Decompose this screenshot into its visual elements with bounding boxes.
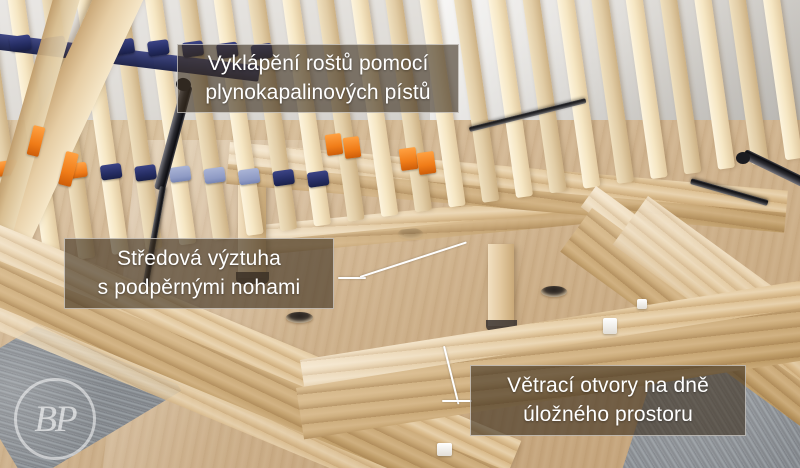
orange-clip — [343, 136, 362, 159]
gas-piston-mount — [736, 152, 750, 164]
plastic-corner-nub — [637, 299, 647, 309]
watermark-text: BP — [17, 381, 93, 457]
callout-center-support: Středová výztuha s podpěrnými nohami — [64, 238, 334, 309]
callout-center-support-line2: s podpěrnými nohami — [98, 274, 301, 302]
callout-center-support-line1: Středová výztuha — [117, 245, 281, 273]
callout-vent-holes: Větrací otvory na dně úložného prostoru — [470, 365, 746, 436]
orange-clip — [417, 151, 437, 175]
callout-gas-pistons-line2: plynokapalinových pístů — [205, 79, 430, 107]
orange-clip — [325, 133, 344, 156]
ventilation-hole — [286, 312, 313, 323]
support-leg-2 — [488, 244, 514, 326]
watermark-logo: BP — [14, 378, 96, 460]
callout-gas-pistons: Vyklápění roštů pomocí plynokapalinových… — [177, 44, 459, 113]
orange-clip — [399, 147, 419, 171]
callout-vent-holes-line2: úložného prostoru — [523, 401, 693, 429]
ventilation-hole — [541, 286, 567, 297]
plastic-corner-nub — [437, 443, 452, 456]
leader-line-vent-holes — [442, 400, 472, 402]
callout-vent-holes-line1: Větrací otvory na dně — [507, 372, 709, 400]
plastic-corner-nub — [603, 318, 617, 334]
product-photo: Vyklápění roštů pomocí plynokapalinových… — [0, 0, 800, 468]
callout-gas-pistons-line1: Vyklápění roštů pomocí — [208, 50, 429, 78]
